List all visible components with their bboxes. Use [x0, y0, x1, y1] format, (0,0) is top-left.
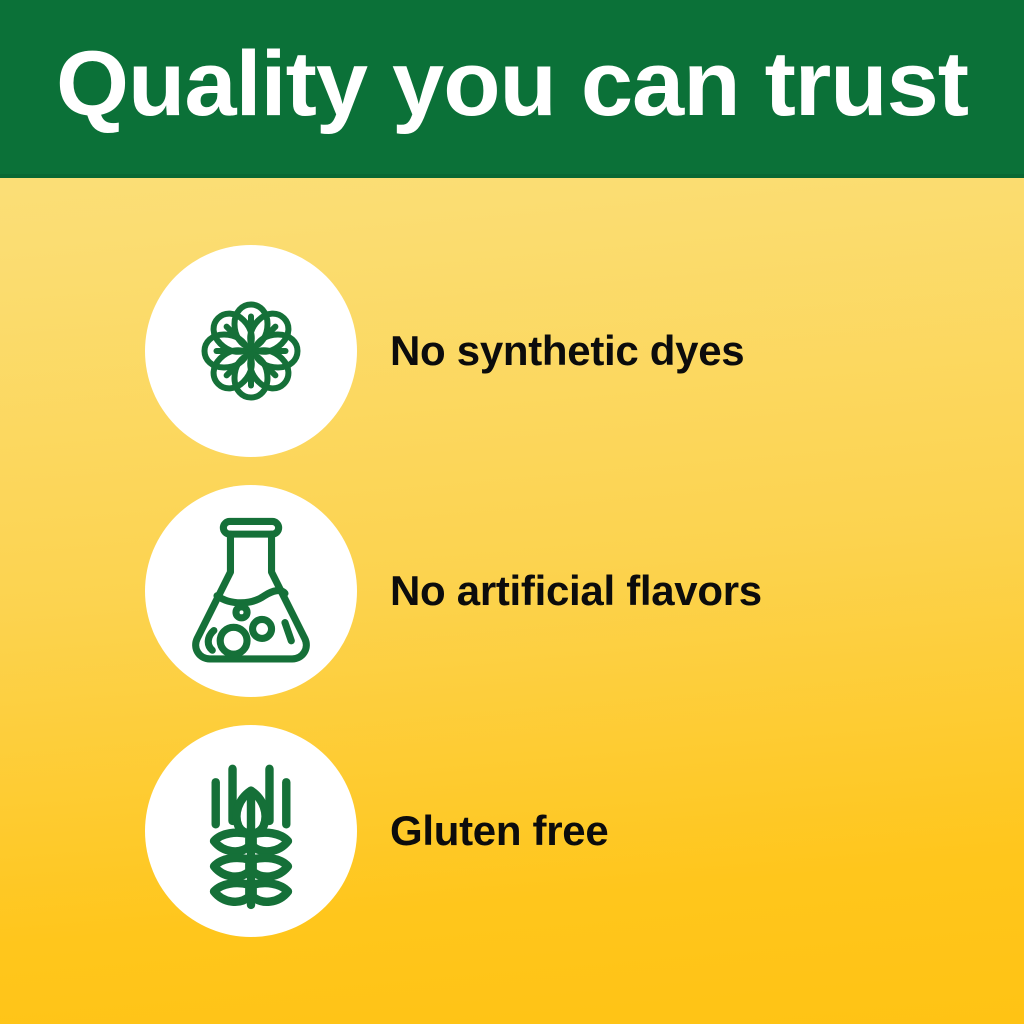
page-title: Quality you can trust	[56, 38, 968, 136]
feature-item-gluten-free: Gluten free	[145, 725, 1005, 937]
icon-badge	[145, 485, 357, 697]
wheat-stalk-icon	[188, 747, 314, 915]
flower-petals-icon	[176, 276, 326, 426]
quality-claims-banner: Quality you can trust	[0, 0, 1024, 1024]
feature-label: No synthetic dyes	[390, 328, 744, 374]
feature-label: Gluten free	[390, 808, 608, 854]
icon-badge	[145, 725, 357, 937]
header-banner: Quality you can trust	[0, 0, 1024, 178]
feature-label: No artificial flavors	[390, 568, 762, 614]
feature-item-no-artificial-flavors: No artificial flavors	[145, 485, 1005, 697]
icon-badge	[145, 245, 357, 457]
feature-list: No synthetic dyes	[0, 178, 1024, 1024]
erlenmeyer-flask-icon	[179, 512, 323, 670]
feature-item-no-synthetic-dyes: No synthetic dyes	[145, 245, 1005, 457]
